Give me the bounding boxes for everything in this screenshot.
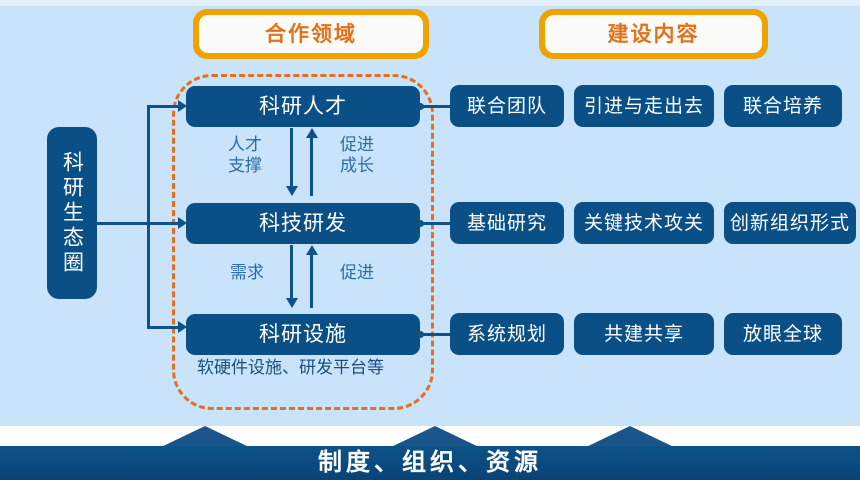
right-box-row1-col3-label: 联合培养 (743, 97, 823, 116)
right-box-row1-col1-label: 联合团队 (467, 97, 547, 116)
connector-branch-talent (147, 105, 179, 108)
right-box-row3-col1: 系统规划 (450, 313, 564, 355)
connector-stub-row2 (419, 222, 451, 225)
header-cooperation-area: 合作领域 (193, 9, 429, 59)
ecosystem-box: 科研生态圈 (47, 127, 97, 299)
right-box-row3-col3: 放眼全球 (724, 313, 842, 355)
middle-box-talent-label: 科研人才 (259, 96, 347, 117)
middle-box-rd: 科技研发 (186, 203, 420, 244)
middle-box-facility-caption: 软硬件设施、研发平台等 (197, 359, 384, 376)
right-box-row2-col3: 创新组织形式 (724, 202, 856, 244)
header-construction-content: 建设内容 (539, 9, 768, 59)
connector-branch-rd (147, 222, 179, 225)
right-box-row3-col1-label: 系统规划 (467, 325, 547, 344)
foundation-arrow-icon-1 (159, 426, 251, 448)
connector-rd-to-talent-up (310, 138, 313, 196)
connector-ecosystem-trunk-horizontal (97, 222, 148, 225)
connector-stub-row3 (419, 333, 451, 336)
connector-facility-to-rd-up (310, 255, 313, 308)
header-construction-content-inner: 建设内容 (545, 15, 762, 53)
right-box-row1-col3: 联合培养 (724, 85, 842, 127)
right-box-row2-col3-label: 创新组织形式 (730, 214, 850, 233)
gap-label-promote: 促进 (322, 262, 392, 283)
connector-rd-to-facility-down (290, 245, 293, 298)
header-construction-content-label: 建设内容 (608, 24, 700, 45)
arrow-down-icon-rd-to-facility (286, 298, 298, 308)
middle-box-rd-label: 科技研发 (259, 213, 347, 234)
foundation-arrow-icon-2 (389, 426, 481, 448)
header-cooperation-area-label: 合作领域 (265, 24, 357, 45)
connector-talent-to-rd-down (290, 128, 293, 186)
connector-ecosystem-trunk-vertical (147, 105, 150, 328)
gap-label-demand: 需求 (212, 262, 282, 283)
right-box-row2-col2: 关键技术攻关 (574, 202, 714, 244)
right-box-row3-col3-label: 放眼全球 (743, 325, 823, 344)
connector-stub-row1 (419, 105, 451, 108)
arrow-up-icon-rd-to-talent (306, 128, 318, 138)
middle-box-facility-label: 科研设施 (259, 324, 347, 345)
arrow-up-icon-facility-to-rd (306, 245, 318, 255)
gap-label-promote-growth: 促进 成长 (322, 134, 392, 176)
arrow-down-icon-talent-to-rd (286, 186, 298, 196)
right-box-row1-col1: 联合团队 (450, 85, 564, 127)
gap-label-talent-support: 人才 支撑 (210, 134, 280, 176)
right-box-row2-col2-label: 关键技术攻关 (584, 214, 704, 233)
connector-branch-facility (147, 326, 179, 329)
diagram-canvas: 合作领域 建设内容 科研生态圈 科研人才 科技研发 科研设施 软硬件设施、研发平… (0, 0, 860, 480)
middle-box-talent: 科研人才 (186, 86, 420, 127)
foundation-arrow-icon-3 (584, 426, 676, 448)
foundation-banner-label: 制度、组织、资源 (318, 451, 542, 475)
ecosystem-box-label: 科研生态圈 (62, 151, 83, 276)
right-box-row3-col2-label: 共建共享 (604, 325, 684, 344)
right-box-row2-col1-label: 基础研究 (467, 214, 547, 233)
right-box-row3-col2: 共建共享 (574, 313, 714, 355)
header-cooperation-area-inner: 合作领域 (199, 15, 423, 53)
right-box-row1-col2-label: 引进与走出去 (584, 97, 704, 116)
middle-box-facility: 科研设施 (186, 314, 420, 355)
right-box-row1-col2: 引进与走出去 (574, 85, 714, 127)
foundation-banner: 制度、组织、资源 (0, 446, 860, 480)
right-box-row2-col1: 基础研究 (450, 202, 564, 244)
